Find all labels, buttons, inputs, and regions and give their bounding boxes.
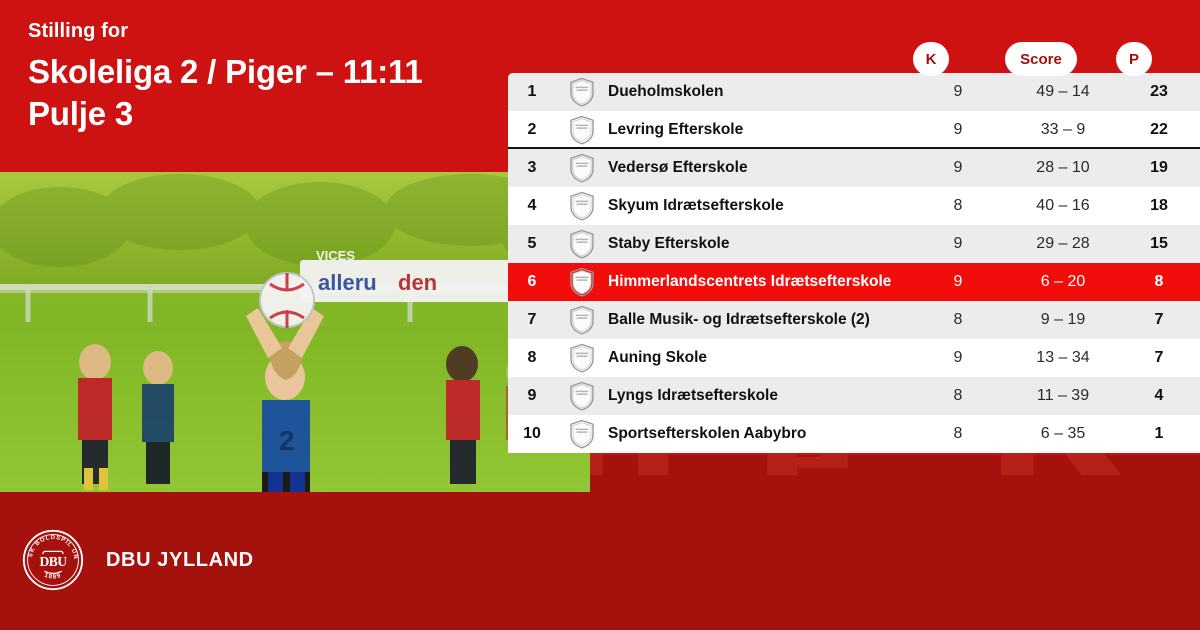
- table-row[interactable]: 10 Sportsefterskolen Aabybro86 – 351: [508, 415, 1200, 453]
- row-matches: 9: [908, 83, 1008, 101]
- row-matches: 9: [908, 121, 1008, 139]
- header-block: Stilling for Skoleliga 2 / Piger – 11:11…: [28, 20, 488, 135]
- footer: DANSK BOLDSPIL UNION 1889 DBU DBU JYLLAN…: [0, 490, 1200, 630]
- row-crest: [556, 267, 608, 297]
- svg-text:2: 2: [279, 425, 295, 456]
- row-team-name: Auning Skole: [608, 349, 908, 367]
- row-matches: 8: [908, 425, 1008, 443]
- club-crest-icon: [569, 419, 595, 449]
- row-crest: [556, 343, 608, 373]
- club-crest-icon: [569, 115, 595, 145]
- row-rank: 7: [508, 311, 556, 329]
- club-crest-icon: [569, 267, 595, 297]
- row-score: 9 – 19: [1008, 311, 1118, 329]
- row-matches: 9: [908, 349, 1008, 367]
- club-crest-icon: [569, 343, 595, 373]
- footer-org-name: DBU JYLLAND: [106, 549, 254, 572]
- row-score: 11 – 39: [1008, 387, 1118, 405]
- table-row[interactable]: 9 Lyngs Idrætsefterskole811 – 394: [508, 377, 1200, 415]
- page-title-line-2: Pulje 3: [28, 93, 488, 135]
- column-header-score: Score: [1005, 42, 1077, 76]
- row-team-name: Vedersø Efterskole: [608, 159, 908, 177]
- svg-text:alleru: alleru: [318, 270, 377, 295]
- row-points: 15: [1118, 235, 1200, 253]
- club-crest-icon: [569, 229, 595, 259]
- row-team-name: Himmerlandscentrets Idrætsefterskole: [608, 273, 908, 291]
- table-row[interactable]: 6 Himmerlandscentrets Idrætsefterskole96…: [508, 263, 1200, 301]
- table-row[interactable]: 1 Dueholmskolen949 – 1423: [508, 73, 1200, 111]
- row-score: 6 – 35: [1008, 425, 1118, 443]
- row-rank: 2: [508, 121, 556, 139]
- table-row[interactable]: 7 Balle Musik- og Idrætsefterskole (2)89…: [508, 301, 1200, 339]
- club-crest-icon: [569, 191, 595, 221]
- row-matches: 8: [908, 387, 1008, 405]
- row-rank: 10: [508, 425, 556, 443]
- column-header-points: P: [1116, 42, 1152, 76]
- row-crest: [556, 229, 608, 259]
- row-team-name: Dueholmskolen: [608, 83, 908, 101]
- club-crest-icon: [569, 305, 595, 335]
- row-team-name: Lyngs Idrætsefterskole: [608, 387, 908, 405]
- row-rank: 5: [508, 235, 556, 253]
- row-matches: 9: [908, 273, 1008, 291]
- row-points: 18: [1118, 197, 1200, 215]
- row-matches: 9: [908, 159, 1008, 177]
- row-points: 19: [1118, 159, 1200, 177]
- row-team-name: Balle Musik- og Idrætsefterskole (2): [608, 311, 908, 329]
- table-row[interactable]: 5 Staby Efterskole929 – 2815: [508, 225, 1200, 263]
- row-rank: 9: [508, 387, 556, 405]
- row-points: 22: [1118, 121, 1200, 139]
- page-title-line-1: Skoleliga 2 / Piger – 11:11: [28, 51, 488, 93]
- svg-text:VICES: VICES: [316, 248, 355, 263]
- row-points: 7: [1118, 311, 1200, 329]
- row-crest: [556, 115, 608, 145]
- svg-text:DBU: DBU: [40, 554, 68, 569]
- row-points: 8: [1118, 273, 1200, 291]
- row-rank: 6: [508, 273, 556, 291]
- table-column-badges: K Score P: [508, 42, 1200, 76]
- hero-photo: alleru den VICES 2: [0, 172, 590, 492]
- row-points: 4: [1118, 387, 1200, 405]
- table-row[interactable]: 4 Skyum Idrætsefterskole840 – 1618: [508, 187, 1200, 225]
- row-score: 29 – 28: [1008, 235, 1118, 253]
- row-matches: 8: [908, 197, 1008, 215]
- dbu-logo-icon: DANSK BOLDSPIL UNION 1889 DBU: [22, 529, 84, 591]
- row-rank: 4: [508, 197, 556, 215]
- page-title: Skoleliga 2 / Piger – 11:11 Pulje 3: [28, 51, 488, 135]
- row-score: 33 – 9: [1008, 121, 1118, 139]
- row-crest: [556, 381, 608, 411]
- row-crest: [556, 419, 608, 449]
- row-crest: [556, 153, 608, 183]
- row-crest: [556, 305, 608, 335]
- row-points: 7: [1118, 349, 1200, 367]
- row-team-name: Skyum Idrætsefterskole: [608, 197, 908, 215]
- row-rank: 1: [508, 83, 556, 101]
- row-score: 6 – 20: [1008, 273, 1118, 291]
- column-header-matches: K: [913, 42, 949, 76]
- row-team-name: Staby Efterskole: [608, 235, 908, 253]
- row-crest: [556, 77, 608, 107]
- row-points: 23: [1118, 83, 1200, 101]
- kicker-label: Stilling for: [28, 20, 488, 43]
- row-points: 1: [1118, 425, 1200, 443]
- row-score: 40 – 16: [1008, 197, 1118, 215]
- row-team-name: Sportsefterskolen Aabybro: [608, 425, 908, 443]
- row-rank: 3: [508, 159, 556, 177]
- svg-text:den: den: [398, 270, 437, 295]
- row-matches: 8: [908, 311, 1008, 329]
- club-crest-icon: [569, 77, 595, 107]
- club-crest-icon: [569, 381, 595, 411]
- row-score: 49 – 14: [1008, 83, 1118, 101]
- table-row[interactable]: 8 Auning Skole913 – 347: [508, 339, 1200, 377]
- row-crest: [556, 191, 608, 221]
- club-crest-icon: [569, 153, 595, 183]
- row-matches: 9: [908, 235, 1008, 253]
- row-score: 28 – 10: [1008, 159, 1118, 177]
- row-team-name: Levring Efterskole: [608, 121, 908, 139]
- row-score: 13 – 34: [1008, 349, 1118, 367]
- table-row[interactable]: 3 Vedersø Efterskole928 – 1019: [508, 149, 1200, 187]
- row-rank: 8: [508, 349, 556, 367]
- table-row[interactable]: 2 Levring Efterskole933 – 922: [508, 111, 1200, 149]
- standings-table: 1 Dueholmskolen949 – 14232 Levring Efter…: [508, 73, 1200, 453]
